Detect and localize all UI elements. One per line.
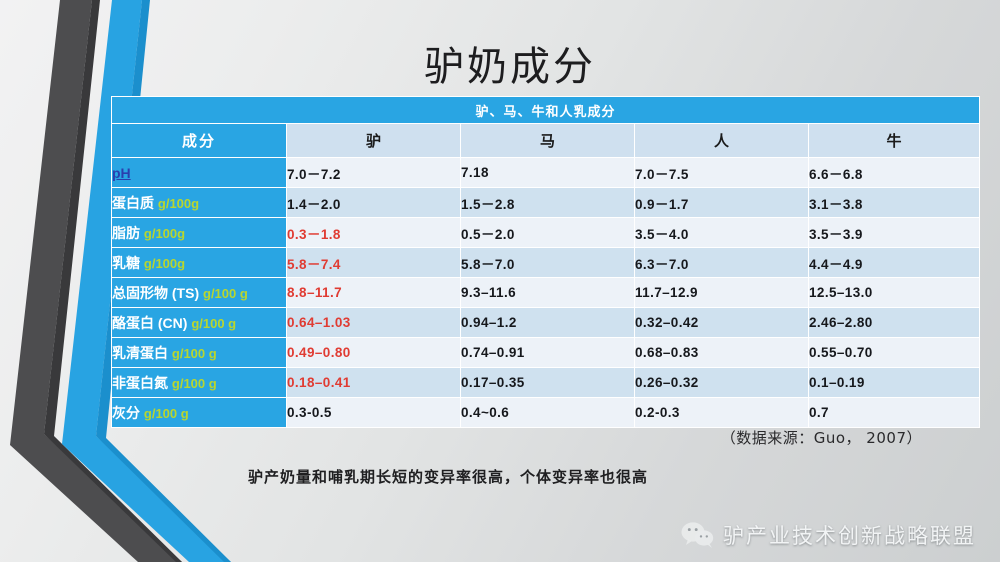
table-cell: 3.5－4.0 bbox=[635, 218, 809, 248]
table-cell: 0.68–0.83 bbox=[635, 338, 809, 368]
row-label-cell: 乳糖 g/100g bbox=[112, 248, 287, 278]
table-cell: 5.8－7.4 bbox=[287, 248, 461, 278]
row-label-cell: 乳清蛋白 g/100 g bbox=[112, 338, 287, 368]
row-label-unit: g/100g bbox=[144, 256, 185, 271]
table-row: 蛋白质 g/100g1.4－2.01.5－2.80.9－1.73.1－3.8 bbox=[112, 188, 980, 218]
row-label-text: 总固形物 (TS) bbox=[112, 285, 199, 301]
table-row: 酪蛋白 (CN) g/100 g0.64–1.030.94–1.20.32–0.… bbox=[112, 308, 980, 338]
table-row: 总固形物 (TS) g/100 g8.8–11.79.3–11.611.7–12… bbox=[112, 278, 980, 308]
table-cell: 0.17–0.35 bbox=[461, 368, 635, 398]
watermark-label: 驴产业技术创新战略联盟 bbox=[723, 520, 976, 550]
table-cell: 0.5－2.0 bbox=[461, 218, 635, 248]
row-label-text: 酪蛋白 (CN) bbox=[112, 315, 187, 331]
table-cell: 9.3–11.6 bbox=[461, 278, 635, 308]
table-cell: 0.26–0.32 bbox=[635, 368, 809, 398]
table-cell: 7.18 bbox=[461, 158, 635, 188]
row-label-cell: 酪蛋白 (CN) g/100 g bbox=[112, 308, 287, 338]
table-row: 乳清蛋白 g/100 g0.49–0.800.74–0.910.68–0.830… bbox=[112, 338, 980, 368]
table-cell: 0.7 bbox=[809, 398, 980, 428]
table-cell: 0.3-0.5 bbox=[287, 398, 461, 428]
row-label-unit: g/100 g bbox=[172, 346, 217, 361]
row-label-cell: 非蛋白氮 g/100 g bbox=[112, 368, 287, 398]
table-cell: 0.94–1.2 bbox=[461, 308, 635, 338]
table-row: pH7.0－7.27.187.0－7.56.6－6.8 bbox=[112, 158, 980, 188]
table-body: pH7.0－7.27.187.0－7.56.6－6.8蛋白质 g/100g1.4… bbox=[112, 158, 980, 428]
table-cell: 0.2-0.3 bbox=[635, 398, 809, 428]
table-title-row: 驴、马、牛和人乳成分 bbox=[112, 97, 980, 124]
table-row: 灰分 g/100 g0.3-0.50.4~0.60.2-0.30.7 bbox=[112, 398, 980, 428]
column-header-cow: 牛 bbox=[809, 124, 980, 158]
row-label-text: 非蛋白氮 bbox=[112, 375, 168, 391]
table-cell: 3.5－3.9 bbox=[809, 218, 980, 248]
table-cell: 0.18–0.41 bbox=[287, 368, 461, 398]
table-cell: 0.3－1.8 bbox=[287, 218, 461, 248]
table-cell: 0.9－1.7 bbox=[635, 188, 809, 218]
table-row: 脂肪 g/100g0.3－1.80.5－2.03.5－4.03.5－3.9 bbox=[112, 218, 980, 248]
column-header-horse: 马 bbox=[461, 124, 635, 158]
row-label-link[interactable]: pH bbox=[112, 165, 131, 181]
row-label-text: 乳糖 bbox=[112, 255, 140, 271]
table-cell: 0.55–0.70 bbox=[809, 338, 980, 368]
data-source-note: （数据来源：Guo， 2007） bbox=[721, 427, 922, 448]
table-row: 乳糖 g/100g5.8－7.45.8－7.06.3－7.04.4－4.9 bbox=[112, 248, 980, 278]
table-cell: 8.8–11.7 bbox=[287, 278, 461, 308]
row-label-unit: g/100g bbox=[144, 226, 185, 241]
footer-watermark: 驴产业技术创新战略联盟 bbox=[681, 520, 976, 550]
table-row: 非蛋白氮 g/100 g0.18–0.410.17–0.350.26–0.320… bbox=[112, 368, 980, 398]
table-cell: 0.49–0.80 bbox=[287, 338, 461, 368]
row-label-cell: 总固形物 (TS) g/100 g bbox=[112, 278, 287, 308]
row-label-unit: g/100 g bbox=[191, 316, 236, 331]
table-header-row: 成分 驴 马 人 牛 bbox=[112, 124, 980, 158]
table-cell: 0.4~0.6 bbox=[461, 398, 635, 428]
row-label-cell: 脂肪 g/100g bbox=[112, 218, 287, 248]
column-header-human: 人 bbox=[635, 124, 809, 158]
row-label-text: 灰分 bbox=[112, 405, 140, 421]
table-cell: 3.1－3.8 bbox=[809, 188, 980, 218]
row-label-unit: g/100g bbox=[158, 196, 199, 211]
composition-table: 驴、马、牛和人乳成分 成分 驴 马 人 牛 pH7.0－7.27.187.0－7… bbox=[111, 96, 980, 428]
table-cell: 4.4－4.9 bbox=[809, 248, 980, 278]
table-title: 驴、马、牛和人乳成分 bbox=[112, 97, 980, 124]
table-cell: 5.8－7.0 bbox=[461, 248, 635, 278]
table-cell: 0.32–0.42 bbox=[635, 308, 809, 338]
table-cell: 1.4－2.0 bbox=[287, 188, 461, 218]
table-cell: 11.7–12.9 bbox=[635, 278, 809, 308]
slide-caption: 驴产奶量和哺乳期长短的变异率很高，个体变异率也很高 bbox=[248, 466, 648, 487]
row-label-text: 蛋白质 bbox=[112, 195, 154, 211]
slide-canvas: 驴奶成分 驴、马、牛和人乳成分 成分 驴 马 人 牛 bbox=[0, 0, 1000, 562]
table-cell: 7.0－7.5 bbox=[635, 158, 809, 188]
table-cell: 0.1–0.19 bbox=[809, 368, 980, 398]
row-label-cell: 灰分 g/100 g bbox=[112, 398, 287, 428]
row-label-cell: 蛋白质 g/100g bbox=[112, 188, 287, 218]
table-cell: 0.74–0.91 bbox=[461, 338, 635, 368]
column-header-component: 成分 bbox=[112, 124, 287, 158]
row-label-text: 乳清蛋白 bbox=[112, 345, 168, 361]
wechat-icon bbox=[681, 521, 715, 549]
column-header-donkey: 驴 bbox=[287, 124, 461, 158]
table-cell: 6.6－6.8 bbox=[809, 158, 980, 188]
table-cell: 2.46–2.80 bbox=[809, 308, 980, 338]
composition-table-container: 驴、马、牛和人乳成分 成分 驴 马 人 牛 pH7.0－7.27.187.0－7… bbox=[111, 96, 979, 428]
row-label-unit: g/100 g bbox=[172, 376, 217, 391]
table-cell: 0.64–1.03 bbox=[287, 308, 461, 338]
row-label-unit: g/100 g bbox=[144, 406, 189, 421]
table-cell: 7.0－7.2 bbox=[287, 158, 461, 188]
row-label-text: 脂肪 bbox=[112, 225, 140, 241]
table-cell: 6.3－7.0 bbox=[635, 248, 809, 278]
table-cell: 12.5–13.0 bbox=[809, 278, 980, 308]
table-cell: 1.5－2.8 bbox=[461, 188, 635, 218]
page-title: 驴奶成分 bbox=[0, 34, 1000, 92]
row-label-unit: g/100 g bbox=[203, 286, 248, 301]
row-label-cell: pH bbox=[112, 158, 287, 188]
